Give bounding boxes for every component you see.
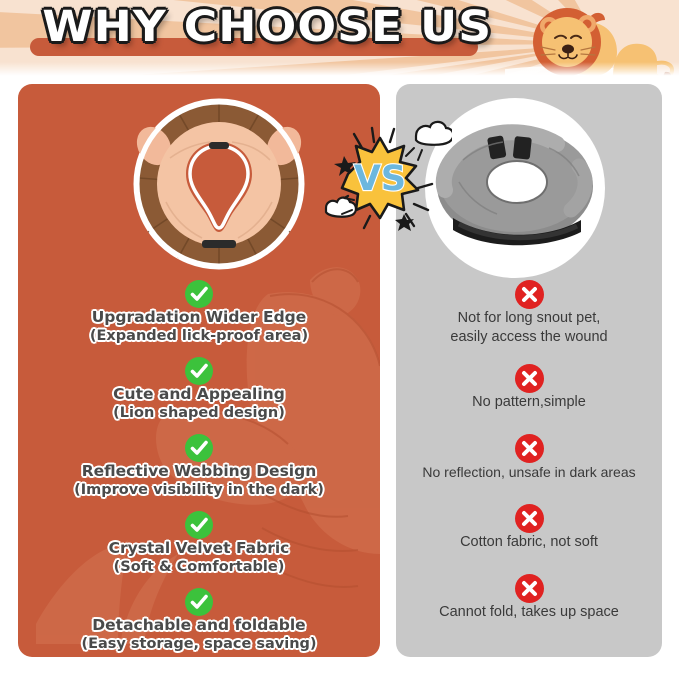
feature-item: Cotton fabric, not soft <box>396 504 662 552</box>
cons-list: Not for long snout pet, easily access th… <box>396 280 662 622</box>
feature-detail: (Easy storage, space saving) <box>18 635 380 653</box>
feature-title: Not for long snout pet, <box>396 309 662 328</box>
feature-item: Cute and Appealing (Lion shaped design) <box>18 357 380 422</box>
infographic-canvas: WHY CHOOSE US <box>0 0 679 679</box>
red-cross-icon <box>515 280 544 309</box>
green-check-icon <box>185 434 213 462</box>
feature-text: No pattern,simple <box>396 393 662 412</box>
red-cross-icon <box>515 434 544 463</box>
red-cross-icon <box>515 504 544 533</box>
feature-item: Upgradation Wider Edge (Expanded lick-pr… <box>18 280 380 345</box>
vs-label: VS <box>354 159 406 199</box>
pros-list: Upgradation Wider Edge (Expanded lick-pr… <box>18 280 380 653</box>
feature-title: Cannot fold, takes up space <box>396 603 662 622</box>
feature-item: Not for long snout pet, easily access th… <box>396 280 662 347</box>
red-cross-icon <box>515 574 544 603</box>
feature-item: Reflective Webbing Design (Improve visib… <box>18 434 380 499</box>
competitor-image-circle <box>425 98 605 278</box>
feature-text: No reflection, unsafe in dark areas <box>396 463 662 482</box>
feature-text: Cannot fold, takes up space <box>396 603 662 622</box>
gray-donut-recovery-collar-image <box>429 120 601 256</box>
feature-title: No reflection, unsafe in dark areas <box>396 463 662 482</box>
feature-text: Not for long snout pet, easily access th… <box>396 309 662 347</box>
feature-detail: easily access the wound <box>396 328 662 347</box>
red-cross-icon <box>515 364 544 393</box>
feature-item: Crystal Velvet Fabric (Soft & Comfortabl… <box>18 511 380 576</box>
feature-item: No pattern,simple <box>396 364 662 412</box>
feature-title: Reflective Webbing Design <box>18 462 380 481</box>
green-check-icon <box>185 588 213 616</box>
feature-detail: (Soft & Comfortable) <box>18 558 380 576</box>
feature-text: Cute and Appealing (Lion shaped design) <box>18 385 380 422</box>
vs-badge: VS <box>318 118 452 240</box>
header-fade <box>0 62 679 78</box>
green-check-icon <box>185 280 213 308</box>
feature-text: Crystal Velvet Fabric (Soft & Comfortabl… <box>18 539 380 576</box>
feature-detail: (Improve visibility in the dark) <box>18 481 380 499</box>
feature-text: Cotton fabric, not soft <box>396 533 662 552</box>
feature-item: No reflection, unsafe in dark areas <box>396 434 662 482</box>
feature-text: Upgradation Wider Edge (Expanded lick-pr… <box>18 308 380 345</box>
feature-title: Cute and Appealing <box>18 385 380 404</box>
feature-detail: (Expanded lick-proof area) <box>18 327 380 345</box>
feature-title: Upgradation Wider Edge <box>18 308 380 327</box>
feature-detail: (Lion shaped design) <box>18 404 380 422</box>
comic-burst-icon: VS <box>318 118 452 240</box>
feature-text: Reflective Webbing Design (Improve visib… <box>18 462 380 499</box>
feature-title: Crystal Velvet Fabric <box>18 539 380 558</box>
feature-item: Cannot fold, takes up space <box>396 574 662 622</box>
header-banner: WHY CHOOSE US <box>0 0 679 78</box>
lion-pet-recovery-collar-image <box>110 98 328 273</box>
feature-title: Detachable and foldable <box>18 616 380 635</box>
feature-item: Detachable and foldable (Easy storage, s… <box>18 588 380 653</box>
feature-text: Detachable and foldable (Easy storage, s… <box>18 616 380 653</box>
green-check-icon <box>185 511 213 539</box>
feature-title: No pattern,simple <box>396 393 662 412</box>
green-check-icon <box>185 357 213 385</box>
page-title: WHY CHOOSE US <box>34 4 500 52</box>
feature-title: Cotton fabric, not soft <box>396 533 662 552</box>
